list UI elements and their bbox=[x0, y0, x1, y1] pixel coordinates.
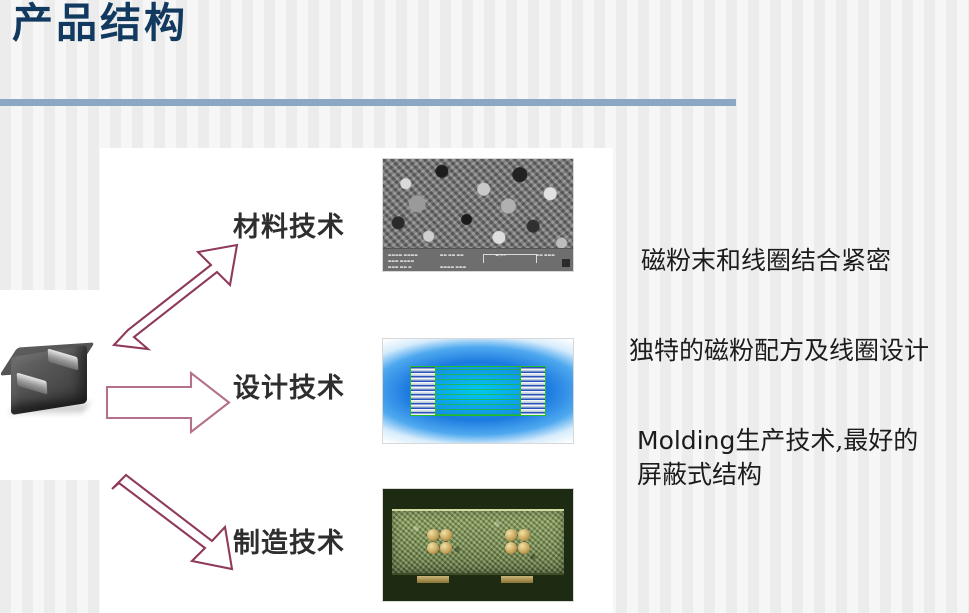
sem-meta-left3: ▬▬▬ ▬▬ ▬ bbox=[388, 264, 412, 269]
part-molded-body bbox=[392, 509, 564, 575]
sem-meta-right: ▬▬ ▬▬▬ bbox=[536, 252, 555, 257]
page-title: 产品结构 bbox=[12, 0, 188, 48]
coil-turns-right bbox=[505, 529, 530, 554]
note-unique-formula: 独特的磁粉配方及线圈设计 bbox=[629, 334, 929, 368]
note-molding-process: Molding生产技术,最好的屏蔽式结构 bbox=[637, 424, 942, 492]
image-sem-micrograph: ▬▬▬▬ ▬▬▬▬ ▬▬▬ ▬▬▬▬ ▬▬▬ ▬▬ ▬ ▬▬ ▬▬ ▬▬ ▬▬▬… bbox=[382, 158, 574, 272]
note-material-bonding: 磁粉末和线圈结合紧密 bbox=[641, 244, 891, 278]
stage-label-design: 设计技术 bbox=[233, 366, 345, 405]
arrow-right-icon bbox=[105, 371, 235, 435]
image-magnetic-field-simulation bbox=[382, 338, 574, 444]
stage-label-manufacturing: 制造技术 bbox=[233, 521, 345, 560]
coil-turns-left bbox=[427, 529, 452, 554]
sem-meta-mid2: ▬▬▬▬ ▬▬▬ bbox=[440, 264, 466, 269]
part-lead-left bbox=[417, 576, 449, 583]
sem-meta-left2: ▬▬▬ ▬▬▬▬ bbox=[388, 258, 414, 263]
sem-meta-mid: ▬▬ ▬▬ ▬▬ bbox=[440, 252, 464, 257]
sem-scale-bar bbox=[483, 254, 537, 263]
sem-caption-bar: ▬▬▬▬ ▬▬▬▬ ▬▬▬ ▬▬▬▬ ▬▬▬ ▬▬ ▬ ▬▬ ▬▬ ▬▬ ▬▬▬… bbox=[383, 248, 573, 271]
note-molding-latin: Molding bbox=[637, 426, 735, 455]
title-divider bbox=[0, 99, 736, 106]
sem-meta-left: ▬▬▬▬ ▬▬▬▬ bbox=[388, 252, 418, 257]
product-photo-molded-inductor bbox=[1, 337, 103, 433]
sem-instrument-logo bbox=[562, 259, 570, 267]
slide-canvas: 产品结构 材料技术 设计技术 制造技术 bbox=[0, 0, 969, 613]
part-lead-right bbox=[501, 576, 533, 583]
stage-label-material: 材料技术 bbox=[233, 205, 345, 244]
inductor-shadow bbox=[10, 403, 90, 413]
image-molded-part-cross-section bbox=[382, 488, 574, 602]
sem-meta-scale: ▬ µm bbox=[495, 252, 506, 257]
coil-cross-section-left bbox=[410, 366, 437, 416]
coil-cross-section-right bbox=[520, 366, 547, 416]
